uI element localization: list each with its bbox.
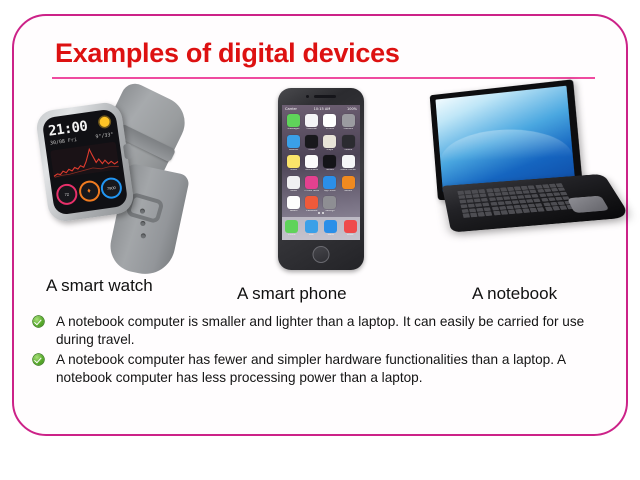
- laptop-screen: [435, 86, 576, 192]
- keyboard-key: [460, 204, 467, 208]
- keyboard-key: [484, 207, 491, 211]
- phone-top-bezel: [306, 95, 336, 98]
- heart-rate-value: 72: [64, 192, 69, 198]
- watch-temperature: 9°/33°: [95, 132, 114, 140]
- keyboard-key: [494, 192, 501, 196]
- keyboard-key: [457, 191, 464, 195]
- keyboard-key: [548, 197, 556, 201]
- watch-display[interactable]: 21:00 30/08 Fri 9°/33° 72: [42, 108, 129, 215]
- dock-label: Mail: [305, 234, 318, 237]
- app-icon-calendar[interactable]: Calendar: [304, 114, 319, 131]
- app-label: Reminders: [304, 169, 319, 172]
- keyboard-key: [513, 205, 521, 209]
- keyboard-key: [535, 185, 542, 189]
- bullet-list: A notebook computer is smaller and light…: [30, 313, 610, 389]
- app-label: Maps: [322, 149, 337, 152]
- title-divider: [52, 77, 595, 79]
- keyboard-key: [472, 190, 479, 194]
- keyboard-key: [476, 208, 483, 212]
- app-label: Photos: [322, 128, 337, 131]
- keyboard-key: [552, 206, 560, 210]
- smart-watch-icon: 21:00 30/08 Fri 9°/33° 72: [32, 90, 222, 274]
- keyboard-key: [517, 195, 524, 199]
- keyboard-key: [537, 189, 544, 193]
- keyboard-key: [556, 183, 563, 187]
- phone-status-bar: Carrier 10:15 AM 100%: [282, 105, 360, 112]
- app-icon-reminders[interactable]: Reminders: [304, 155, 319, 172]
- keyboard-key: [516, 191, 523, 195]
- keyboard-key: [519, 199, 526, 203]
- app-icon-settings[interactable]: Settings: [322, 196, 337, 213]
- app-icon-health[interactable]: Health: [286, 196, 301, 213]
- keyboard-key: [546, 193, 554, 197]
- earpiece-speaker-icon: [314, 95, 336, 98]
- app-glyph: [305, 155, 318, 168]
- laptop-keyboard[interactable]: [457, 183, 574, 218]
- app-label: Videos: [340, 149, 356, 152]
- keyboard-key: [558, 187, 566, 191]
- phone-app-grid: MessagesCalendarPhotosCameraWeatherClock…: [282, 112, 360, 213]
- app-icon-maps[interactable]: Maps: [322, 135, 337, 152]
- app-icon-clock[interactable]: Clock: [304, 135, 319, 152]
- watch-widget-row: 72 ♦ 7900: [55, 176, 124, 210]
- app-glyph: [287, 114, 300, 127]
- page-title: Examples of digital devices: [55, 38, 400, 69]
- app-icon-news[interactable]: News: [286, 176, 301, 193]
- sun-icon: [99, 116, 110, 127]
- app-glyph: [287, 176, 300, 189]
- keyboard-key: [514, 186, 521, 190]
- keyboard-key: [474, 198, 481, 202]
- keyboard-key: [523, 190, 530, 194]
- keyboard-key: [533, 198, 541, 202]
- calories-dial: ♦: [77, 179, 101, 203]
- caption-smart-watch: A smart watch: [46, 276, 153, 296]
- steps-dial: 7900: [100, 176, 124, 200]
- app-glyph: [342, 135, 355, 148]
- keyboard-key: [543, 202, 551, 206]
- keyboard-key: [535, 203, 543, 207]
- watch-strap-hole: [140, 233, 146, 239]
- keyboard-key: [544, 188, 551, 192]
- caption-smart-phone: A smart phone: [237, 284, 347, 304]
- keyboard-key: [515, 209, 523, 213]
- keyboard-key: [521, 186, 528, 190]
- keyboard-key: [496, 197, 503, 201]
- keyboard-key: [541, 198, 549, 202]
- app-icon-ibooks[interactable]: iBooks: [340, 176, 356, 193]
- keyboard-key: [468, 203, 475, 207]
- app-glyph: [305, 176, 318, 189]
- activity-sparkline: [50, 142, 119, 179]
- watch-time: 21:00: [47, 118, 88, 139]
- app-label: Clock: [304, 149, 319, 152]
- keyboard-key: [545, 207, 553, 211]
- status-carrier: Carrier: [285, 107, 297, 111]
- keyboard-key: [510, 196, 517, 200]
- device-smart-watch: 21:00 30/08 Fri 9°/33° 72: [32, 86, 222, 276]
- music-note-icon: [344, 220, 357, 233]
- app-icon-weather[interactable]: Weather: [286, 135, 301, 152]
- keyboard-key: [489, 197, 496, 201]
- keyboard-key: [532, 194, 539, 198]
- app-glyph: [323, 196, 336, 209]
- app-glyph: [342, 176, 355, 189]
- app-label: Game Center: [340, 169, 356, 172]
- app-label: Stocks: [322, 169, 337, 172]
- dock-mail-icon[interactable]: Mail: [305, 220, 318, 237]
- home-button[interactable]: [313, 246, 330, 263]
- keyboard-key: [487, 193, 494, 197]
- keyboard-key: [506, 205, 513, 209]
- app-glyph: [323, 155, 336, 168]
- watch-activity-graph: [50, 142, 119, 179]
- phone-dock: PhoneMailSafariMusic: [282, 217, 360, 240]
- app-label: Calendar: [304, 128, 319, 131]
- app-glyph: [287, 155, 300, 168]
- mail-icon: [305, 220, 318, 233]
- keyboard-key: [523, 209, 531, 213]
- app-glyph: [323, 176, 336, 189]
- keyboard-key: [507, 187, 514, 191]
- keyboard-key: [542, 184, 549, 188]
- app-glyph: [342, 114, 355, 127]
- app-icon-stocks[interactable]: Stocks: [322, 155, 337, 172]
- device-captions: A smart watch A smart phone A notebook: [24, 276, 616, 304]
- check-circle-icon: [33, 354, 44, 365]
- app-label: Camera: [340, 128, 356, 131]
- laptop-trackpad[interactable]: [567, 196, 609, 214]
- keyboard-key: [493, 188, 500, 192]
- keyboard-key: [505, 201, 512, 205]
- list-item: A notebook computer is smaller and light…: [30, 313, 610, 349]
- app-label: Weather: [286, 149, 301, 152]
- phone-icon: [285, 220, 298, 233]
- keyboard-key: [490, 202, 497, 206]
- keyboard-key: [524, 194, 531, 198]
- device-notebook: [424, 86, 616, 276]
- steps-value: 7900: [107, 185, 117, 191]
- app-glyph: [342, 155, 355, 168]
- app-label: News: [286, 190, 301, 193]
- app-glyph: [323, 135, 336, 148]
- app-icon-itunes-store[interactable]: iTunes Store: [304, 176, 319, 193]
- phone-display[interactable]: Carrier 10:15 AM 100% MessagesCalendarPh…: [282, 105, 360, 240]
- list-item-text: A notebook computer is smaller and light…: [56, 314, 584, 347]
- app-label: App Store: [322, 190, 337, 193]
- keyboard-key: [483, 202, 490, 206]
- app-icon-photos[interactable]: Photos: [322, 114, 337, 131]
- app-label: Notes: [286, 169, 301, 172]
- keyboard-key: [470, 213, 477, 217]
- keyboard-key: [491, 206, 498, 210]
- keyboard-key: [521, 204, 529, 208]
- keyboard-key: [463, 213, 470, 217]
- keyboard-key: [530, 189, 537, 193]
- app-icon-app-store[interactable]: App Store: [322, 176, 337, 193]
- app-icon-game-center[interactable]: Game Center: [340, 155, 356, 172]
- keyboard-key: [464, 190, 471, 194]
- app-icon-videos[interactable]: Videos: [340, 135, 356, 152]
- keyboard-key: [526, 199, 534, 203]
- compass-icon: [324, 220, 337, 233]
- app-glyph: [287, 196, 300, 209]
- app-icon-notes[interactable]: Notes: [286, 155, 301, 172]
- keyboard-key: [467, 199, 474, 203]
- keyboard-key: [459, 199, 466, 203]
- keyboard-key: [479, 189, 486, 193]
- app-label: iTunes Store: [304, 190, 319, 193]
- app-glyph: [287, 135, 300, 148]
- status-clock: 10:15 AM: [314, 107, 331, 111]
- heart-rate-dial: 72: [55, 182, 79, 206]
- watch-strap-hole: [140, 221, 146, 227]
- keyboard-key: [500, 187, 507, 191]
- slide-canvas: Examples of digital devices 21:00: [0, 0, 640, 480]
- keyboard-key: [537, 207, 545, 211]
- keyboard-key: [473, 194, 480, 198]
- keyboard-key: [462, 209, 469, 213]
- keyboard-key: [500, 210, 508, 214]
- flame-icon: ♦: [87, 187, 92, 194]
- keyboard-key: [528, 185, 535, 189]
- list-item: A notebook computer has fewer and simple…: [30, 351, 610, 387]
- dock-phone-icon[interactable]: Phone: [285, 220, 298, 237]
- front-camera-icon: [306, 95, 309, 98]
- keyboard-key: [475, 203, 482, 207]
- keyboard-key: [480, 193, 487, 197]
- app-label: Messages: [286, 128, 301, 131]
- keyboard-key: [503, 196, 510, 200]
- keyboard-key: [501, 192, 508, 196]
- status-battery: 100%: [347, 107, 357, 111]
- keyboard-key: [458, 195, 465, 199]
- app-label: iBooks: [340, 190, 356, 193]
- keyboard-key: [539, 193, 547, 197]
- keyboard-key: [512, 200, 519, 204]
- app-icon-passbook[interactable]: Passbook: [304, 196, 319, 213]
- dock-music-note-icon[interactable]: Music: [344, 220, 357, 237]
- keyboard-key: [493, 211, 500, 215]
- device-row: 21:00 30/08 Fri 9°/33° 72: [24, 86, 616, 276]
- keyboard-key: [509, 191, 516, 195]
- app-icon-camera[interactable]: Camera: [340, 114, 356, 131]
- dock-label: Music: [344, 234, 357, 237]
- keyboard-key: [508, 210, 516, 214]
- page-dots: [282, 212, 360, 214]
- keyboard-key: [485, 212, 492, 216]
- dock-compass-icon[interactable]: Safari: [324, 220, 337, 237]
- keyboard-key: [528, 203, 536, 207]
- app-glyph: [305, 135, 318, 148]
- dock-label: Phone: [285, 234, 298, 237]
- dock-label: Safari: [324, 234, 337, 237]
- watch-case: 21:00 30/08 Fri 9°/33° 72: [35, 101, 136, 224]
- keyboard-key: [560, 192, 568, 196]
- keyboard-key: [499, 206, 506, 210]
- keyboard-key: [530, 208, 538, 212]
- device-smart-phone: Carrier 10:15 AM 100% MessagesCalendarPh…: [246, 86, 396, 276]
- check-circle-icon: [33, 316, 44, 327]
- keyboard-key: [550, 202, 558, 206]
- notebook-laptop-icon: [424, 94, 616, 264]
- caption-notebook: A notebook: [472, 284, 557, 304]
- smart-phone-icon: Carrier 10:15 AM 100% MessagesCalendarPh…: [278, 88, 364, 270]
- keyboard-key: [478, 212, 485, 216]
- keyboard-key: [469, 208, 476, 212]
- app-glyph: [305, 114, 318, 127]
- app-glyph: [305, 196, 318, 209]
- app-glyph: [323, 114, 336, 127]
- list-item-text: A notebook computer has fewer and simple…: [56, 352, 565, 385]
- keyboard-key: [466, 194, 473, 198]
- keyboard-key: [481, 198, 488, 202]
- keyboard-key: [497, 201, 504, 205]
- keyboard-key: [486, 188, 493, 192]
- app-icon-messages[interactable]: Messages: [286, 114, 301, 131]
